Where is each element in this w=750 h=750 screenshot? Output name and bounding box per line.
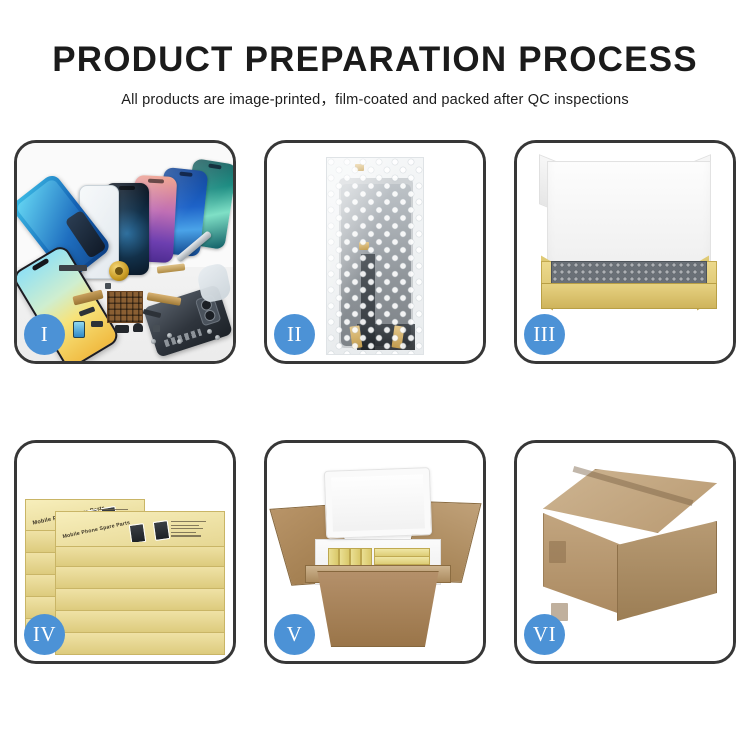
box-lid-title: Mobile Phone Spare Parts (62, 520, 131, 540)
screw-part (177, 339, 182, 344)
small-display-part (73, 321, 85, 338)
screw-part (215, 335, 220, 340)
step-badge-4: IV (24, 614, 65, 655)
small-part (91, 321, 103, 327)
stacked-box (55, 587, 225, 611)
phone-notch-icon (208, 163, 221, 169)
small-part (153, 325, 160, 332)
stacked-box (55, 631, 225, 655)
box-lid-spec-lines (171, 521, 215, 541)
step-badge-6: VI (524, 614, 565, 655)
box-stack-front: Mobile Phone Spare Parts (55, 505, 225, 661)
antenna-bar-part (59, 265, 87, 271)
box-lid-artwork: Mobile Phone Spare Parts (60, 516, 220, 542)
product-preparation-infographic: PRODUCT PREPARATION PROCESS All products… (0, 0, 750, 750)
carton-body (309, 571, 447, 647)
phone-notch-icon (119, 186, 135, 190)
step-badge-3: III (524, 314, 565, 355)
bubble-wrap-texture (327, 158, 423, 354)
page-subtitle: All products are image-printed，film-coat… (0, 88, 750, 109)
carton-tape-patch (549, 541, 566, 563)
phone-notch-icon (148, 179, 164, 184)
stacked-box (55, 565, 225, 589)
stacked-box (55, 609, 225, 633)
process-step-grid: I II (14, 140, 736, 685)
step-badge-2: II (274, 314, 315, 355)
phone-notch-icon (179, 172, 192, 177)
white-foam-lid (324, 467, 432, 539)
gold-coil-part (109, 261, 129, 281)
white-foam-lid (547, 161, 711, 275)
phone-thumbnail (129, 523, 146, 542)
screw-part (207, 329, 212, 334)
stacked-box-top-lid: Mobile Phone Spare Parts (55, 511, 225, 547)
screw-part (151, 339, 156, 344)
phone-thumbnail (153, 520, 170, 541)
phone-notch-icon (32, 258, 50, 272)
step-panel-sealed-carton[interactable]: VI (514, 440, 736, 664)
step-panel-inner-box[interactable]: III (514, 140, 736, 364)
kraft-box-front-panel (541, 283, 717, 309)
step-panel-phone-parts[interactable]: I (14, 140, 236, 364)
logic-board-grid-part (107, 291, 143, 323)
step-panel-box-stack[interactable]: Mobile Phone Spare Parts (14, 440, 236, 664)
bubble-wrap-bag (326, 157, 424, 355)
step-badge-1: I (24, 314, 65, 355)
speaker-part (133, 323, 143, 332)
connector-part (115, 325, 129, 333)
page-title: PRODUCT PREPARATION PROCESS (0, 40, 750, 80)
step-panel-carton-packing[interactable]: V (264, 440, 486, 664)
step-panel-bubble-wrap[interactable]: II (264, 140, 486, 364)
screw-part (167, 333, 172, 338)
step-badge-5: V (274, 614, 315, 655)
small-part (105, 283, 111, 289)
